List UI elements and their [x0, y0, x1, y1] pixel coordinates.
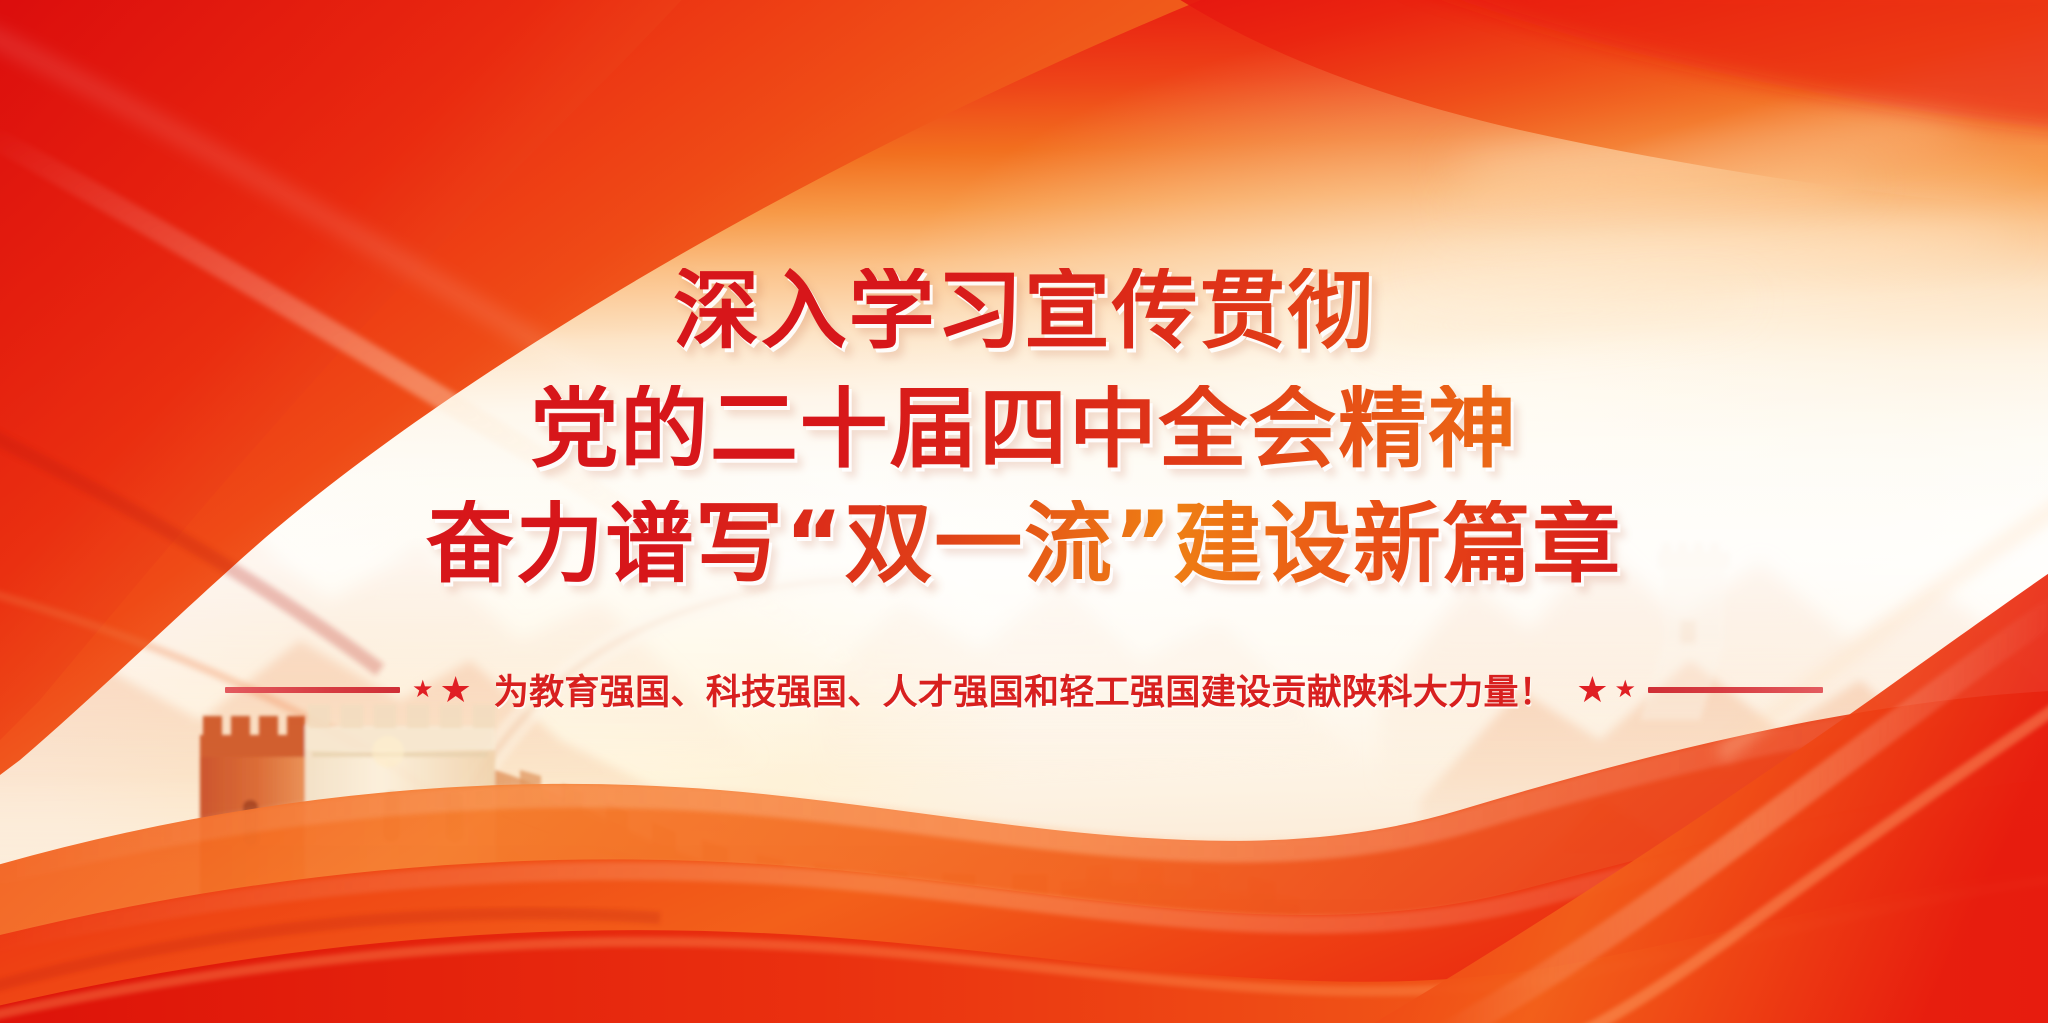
star-icon: ★ — [1615, 678, 1637, 702]
subtitle-text: 为教育强国、科技强国、人才强国和轻工强国建设贡献陕科大力量！ — [494, 664, 1555, 715]
star-icon: ★ — [439, 672, 471, 708]
subtitle-row: ★ ★ 为教育强国、科技强国、人才强国和轻工强国建设贡献陕科大力量！ ★ ★ — [0, 664, 2048, 715]
title-line-1: 深入学习宣传贯彻 — [0, 268, 2048, 354]
poster-canvas: 深入学习宣传贯彻 党的二十届四中全会精神 奋力谱写“双一流”建设新篇章 ★ ★ … — [0, 0, 2048, 1023]
star-group-left: ★ ★ — [412, 672, 472, 708]
decorative-rule-right — [1648, 687, 1823, 693]
star-icon: ★ — [1576, 672, 1608, 708]
title-line-2: 党的二十届四中全会精神 — [0, 385, 2048, 473]
star-group-right: ★ ★ — [1576, 672, 1636, 708]
decorative-rule-left — [225, 687, 400, 693]
title-line-3: 奋力谱写“双一流”建设新篇章 — [0, 500, 2048, 588]
star-icon: ★ — [412, 678, 434, 702]
